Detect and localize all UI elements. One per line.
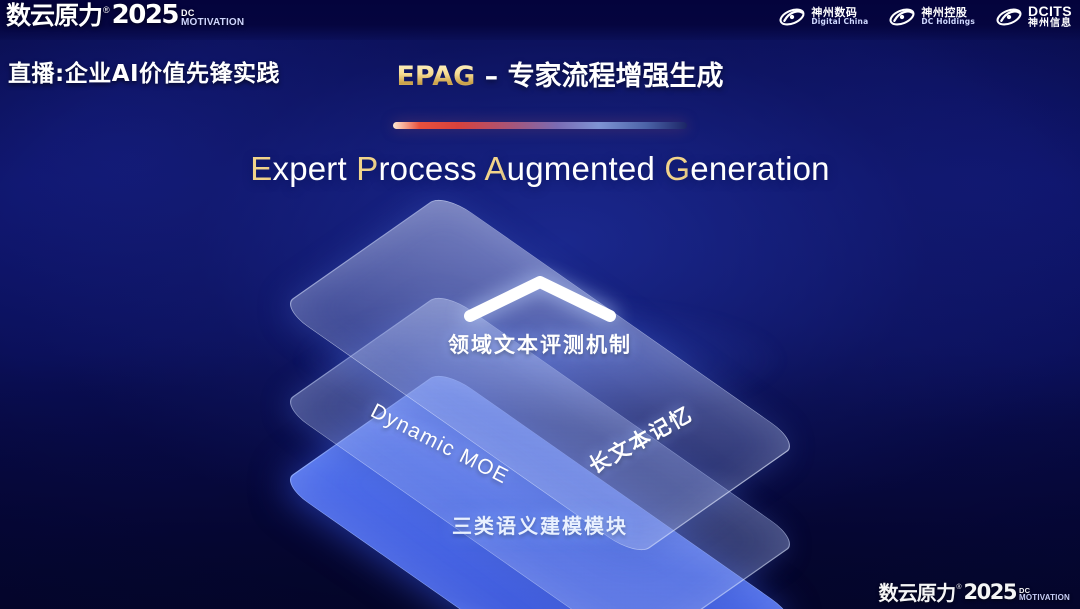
chevron-up-icon [462,272,618,324]
partner-name-cn: 神州信息 [1028,19,1072,30]
brand-name-cn: 数云原力 [6,3,102,28]
brand-registered-mark: ® [956,584,961,591]
partner-name-en: Digital China [811,18,868,26]
partner-logo-dcits: DCITS 神州信息 [995,4,1072,29]
brand-year: 2025 [964,582,1016,603]
slide-subtitle: Expert Process Augmented Generation [0,150,1080,188]
slide-title-acronym: EPAG [396,61,475,92]
partner-logo-text: 神州控股 DC Holdings [921,7,975,26]
brand-logo-bottom-right: 数云原力 ® 2025 DC MOTIVATION [879,582,1070,603]
swoosh-logo-icon [778,5,806,29]
partner-name-en: DC Holdings [921,18,975,26]
swoosh-logo-icon [995,5,1023,29]
brand-motivation-label: MOTIVATION [181,18,244,28]
stack-layer-bottom-label: 三类语义建模模块 [452,510,628,539]
live-stream-title: 直播:企业AI价值先锋实践 [8,54,280,88]
partner-name-en: DCITS [1028,4,1072,19]
partner-logo-text: DCITS 神州信息 [1028,4,1072,29]
title-divider [393,122,687,129]
stack-layer-top-label: 领域文本评测机制 [448,329,632,359]
subtitle-word-process: Process [356,150,477,187]
swoosh-logo-icon [888,5,916,29]
slide-canvas: 数云原力 ® 2025 DC MOTIVATION 直播:企业AI价值先锋实践 … [0,0,1080,609]
partner-logo-text: 神州数码 Digital China [811,7,868,26]
subtitle-word-expert: Expert [250,150,347,187]
brand-logo-top-left: 数云原力 ® 2025 DC MOTIVATION [6,2,244,28]
partner-logo-digital-china: 神州数码 Digital China [778,5,868,29]
brand-dc-motivation: DC MOTIVATION [181,9,244,27]
slide-title-chinese: 专家流程增强生成 [508,61,724,92]
brand-registered-mark: ® [103,5,110,15]
slide-title-dash: – [475,61,507,92]
subtitle-word-generation: Generation [664,150,829,187]
subtitle-word-augmented: Augmented [484,150,655,187]
partner-logo-dc-holdings: 神州控股 DC Holdings [888,5,975,29]
brand-dc-motivation: DC MOTIVATION [1019,587,1070,602]
partner-logo-group: 神州数码 Digital China 神州控股 DC Holdings [778,4,1072,29]
brand-name-cn: 数云原力 [879,583,956,603]
brand-year: 2025 [112,2,178,28]
brand-motivation-label: MOTIVATION [1019,594,1070,602]
